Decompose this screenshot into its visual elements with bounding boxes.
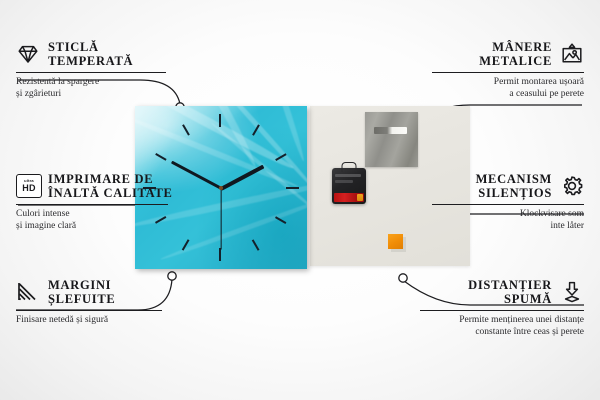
feature-desc-line-2: a ceasului pe perete	[509, 89, 584, 99]
clock-hand-hub	[219, 186, 223, 190]
feature-title-line-1: MÂNERE	[492, 40, 552, 54]
feature-title-line-1: MARGINI	[48, 278, 111, 292]
clock-tick	[219, 114, 221, 127]
feature-title-line-2: ÎNALTĂ CALITATE	[48, 186, 173, 200]
feature-high-quality-print: ultra HD IMPRIMARE DE ÎNALTĂ CALITATE Cu…	[16, 172, 168, 232]
feature-desc-line-2: și imagine clară	[16, 221, 76, 231]
feature-title-line-2: ȘLEFUITE	[48, 292, 115, 306]
feature-title-line-2: SILENȚIOS	[478, 186, 552, 200]
feature-desc-line-1: Permit montarea ușoară	[494, 77, 584, 87]
feature-divider	[432, 204, 584, 205]
feature-tempered-glass: STICLĂ TEMPERATĂ Rezistentă la spargere …	[16, 40, 166, 100]
infographic-canvas: STICLĂ TEMPERATĂ Rezistentă la spargere …	[0, 0, 600, 400]
feature-title-line-1: MECANISM	[476, 172, 552, 186]
hanger-keyhole-slot	[374, 127, 407, 134]
battery	[334, 193, 364, 202]
feature-desc-line-1: Rezistentă la spargere	[16, 77, 99, 87]
metal-hanger-plate	[365, 112, 418, 167]
clock-tick	[286, 187, 299, 189]
feature-title-line-2: TEMPERATĂ	[48, 54, 133, 68]
feature-desc-line-1: Finisare netedă și sigură	[16, 315, 108, 325]
feature-title-line-1: IMPRIMARE DE	[48, 172, 153, 186]
feature-desc-line-2: și zgârieturi	[16, 89, 61, 99]
mechanism-label	[335, 174, 361, 177]
mechanism-label-secondary	[335, 180, 353, 183]
foam-spacer-pad	[388, 234, 403, 249]
feature-foam-spacer: DISTANȚIER SPUMĂ Permite menținerea unei…	[420, 278, 584, 338]
diamond-icon	[16, 42, 40, 66]
feature-divider	[16, 204, 168, 205]
feature-desc-line-2: constante între ceas și perete	[475, 327, 584, 337]
feature-desc-line-1: Culori intense	[16, 209, 70, 219]
marker-foam-spacer	[399, 274, 407, 282]
feature-title-line-1: STICLĂ	[48, 40, 99, 54]
clock-second-hand	[220, 188, 221, 250]
clock-mechanism	[332, 168, 366, 204]
gear-icon	[560, 174, 584, 198]
ultra-hd-icon: ultra HD	[16, 174, 40, 198]
feature-title-line-2: METALICE	[479, 54, 552, 68]
feature-polished-edges: MARGINI ȘLEFUITE Finisare netedă și sigu…	[16, 278, 162, 327]
ultra-hd-icon-main-text: HD	[22, 184, 35, 193]
beveled-edge-icon	[16, 280, 40, 304]
feature-title-line-2: SPUMĂ	[504, 292, 552, 306]
feature-desc-line-1: Permite menținerea unei distanțe	[459, 315, 584, 325]
feature-desc-line-1: Klockvisare som	[520, 209, 584, 219]
feature-divider	[432, 72, 584, 73]
feature-metal-handles: MÂNERE METALICE Permit montarea ușoară a…	[432, 40, 584, 100]
down-arrow-stack-icon	[560, 280, 584, 304]
feature-divider	[16, 72, 166, 73]
feature-title-line-1: DISTANȚIER	[468, 278, 552, 292]
clock-tick	[219, 248, 221, 261]
feature-silent-mechanism: MECANISM SILENȚIOS Klockvisare som inte …	[432, 172, 584, 232]
feature-divider	[420, 310, 584, 311]
product-photo	[135, 106, 470, 274]
feature-desc-line-2: inte låter	[551, 221, 585, 231]
picture-hanger-icon	[560, 42, 584, 66]
mechanism-bail	[342, 162, 357, 172]
feature-divider	[16, 310, 162, 311]
